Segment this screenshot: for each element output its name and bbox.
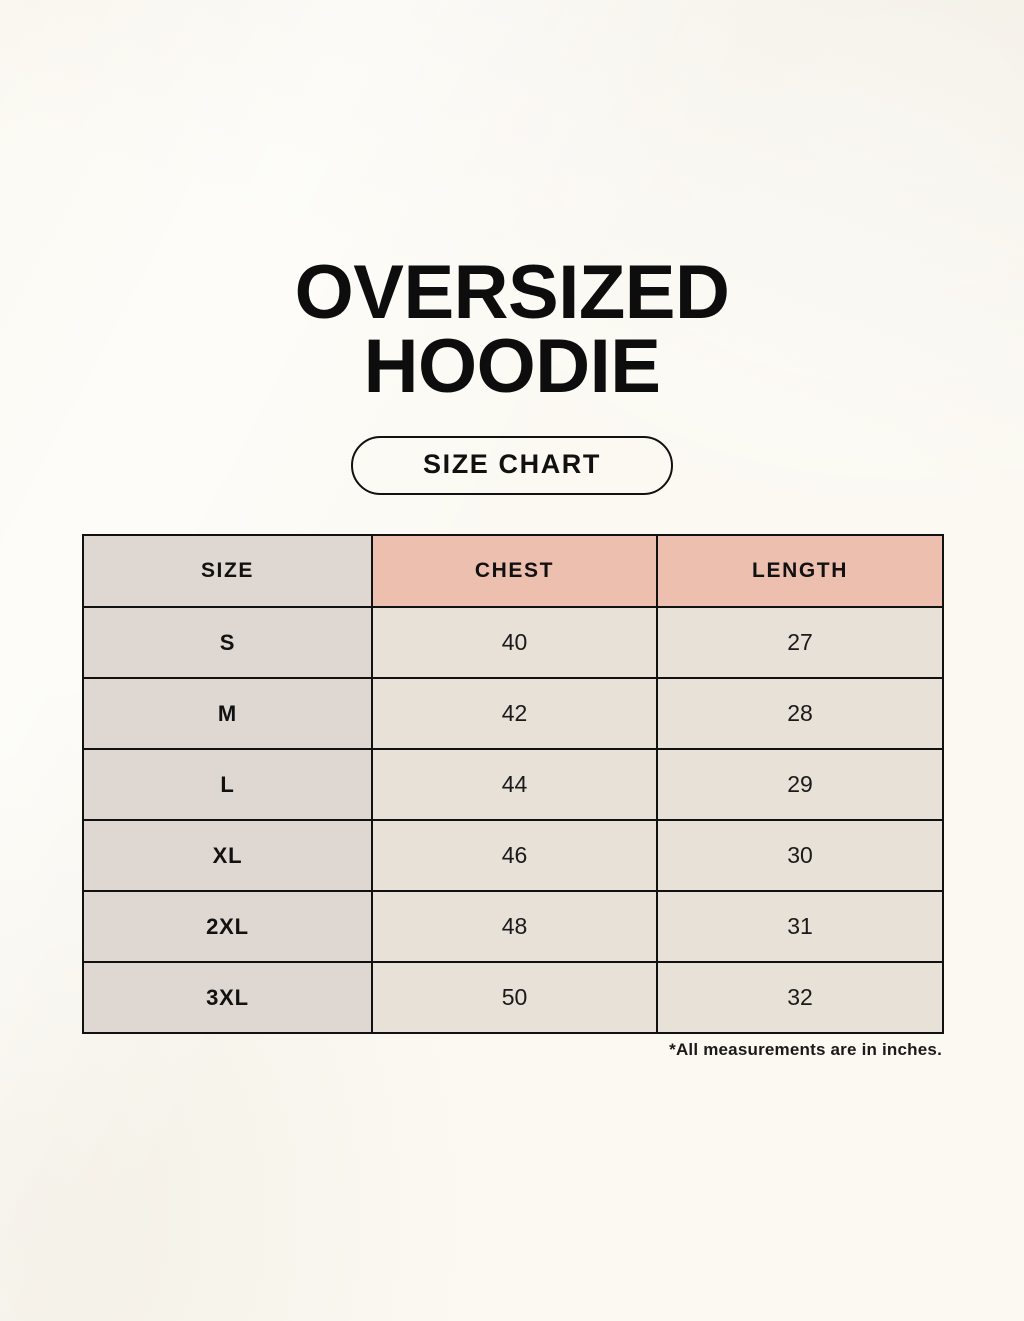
cell-size: L xyxy=(83,749,372,820)
cell-length: 30 xyxy=(657,820,943,891)
cell-size: XL xyxy=(83,820,372,891)
measurement-footnote: *All measurements are in inches. xyxy=(82,1040,942,1060)
column-header-chest: CHEST xyxy=(372,535,657,607)
table-row: M 42 28 xyxy=(83,678,943,749)
cell-length: 31 xyxy=(657,891,943,962)
cell-size: M xyxy=(83,678,372,749)
column-header-length: LENGTH xyxy=(657,535,943,607)
table-row: 2XL 48 31 xyxy=(83,891,943,962)
cell-chest: 44 xyxy=(372,749,657,820)
table-row: 3XL 50 32 xyxy=(83,962,943,1033)
cell-size: 2XL xyxy=(83,891,372,962)
cell-length: 29 xyxy=(657,749,943,820)
size-chart-badge: SIZE CHART xyxy=(351,436,673,495)
size-table: SIZE CHEST LENGTH S 40 27 M 42 28 L xyxy=(82,534,944,1034)
table-header: SIZE CHEST LENGTH xyxy=(83,535,943,607)
cell-chest: 50 xyxy=(372,962,657,1033)
table-row: S 40 27 xyxy=(83,607,943,678)
table-row: L 44 29 xyxy=(83,749,943,820)
cell-chest: 48 xyxy=(372,891,657,962)
table-header-row: SIZE CHEST LENGTH xyxy=(83,535,943,607)
cell-length: 27 xyxy=(657,607,943,678)
cell-length: 28 xyxy=(657,678,943,749)
page-title: OVERSIZED HOODIE xyxy=(0,256,1024,403)
cell-size: 3XL xyxy=(83,962,372,1033)
cell-size: S xyxy=(83,607,372,678)
cell-length: 32 xyxy=(657,962,943,1033)
cell-chest: 46 xyxy=(372,820,657,891)
badge-container: SIZE CHART xyxy=(0,436,1024,495)
size-table-container: SIZE CHEST LENGTH S 40 27 M 42 28 L xyxy=(82,534,942,1034)
cell-chest: 42 xyxy=(372,678,657,749)
size-chart-page: OVERSIZED HOODIE SIZE CHART SIZE CHEST L… xyxy=(0,0,1024,1321)
table-body: S 40 27 M 42 28 L 44 29 XL 46 30 xyxy=(83,607,943,1033)
table-row: XL 46 30 xyxy=(83,820,943,891)
column-header-size: SIZE xyxy=(83,535,372,607)
cell-chest: 40 xyxy=(372,607,657,678)
